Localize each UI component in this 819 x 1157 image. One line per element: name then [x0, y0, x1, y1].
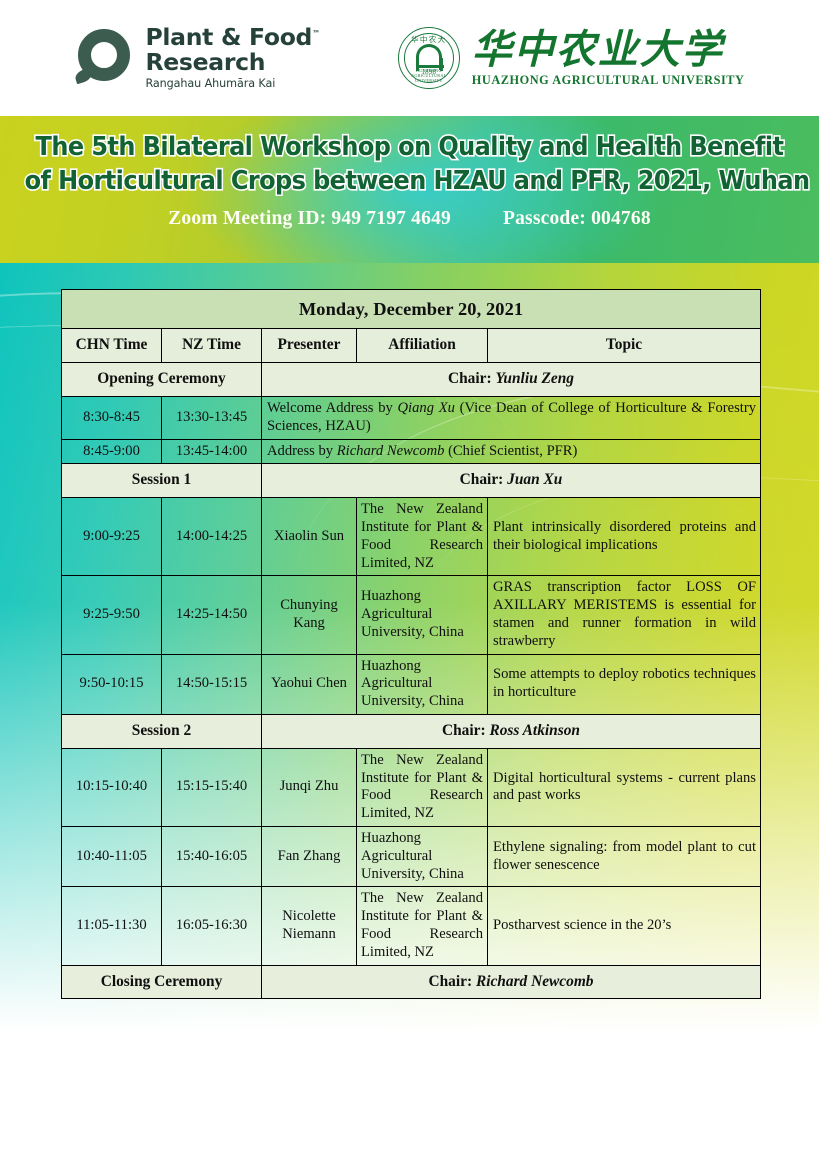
nz-time-cell: 14:50-15:15 [162, 654, 262, 714]
topic-cell: Postharvest science in the 20’s [488, 887, 761, 965]
affiliation-cell: Huazhong Agricultural University, China [357, 654, 488, 714]
topic-cell: GRAS transcription factor LOSS OF AXILLA… [488, 576, 761, 654]
presenter-cell: Fan Zhang [262, 826, 357, 886]
section-chair: Chair: Juan Xu [262, 464, 761, 498]
hzau-chinese-name: 华中农业大学 [472, 29, 745, 71]
zoom-meeting-id: Zoom Meeting ID: 949 7197 4649 [168, 208, 451, 229]
column-header-row: CHN TimeNZ TimePresenterAffiliationTopic [62, 329, 761, 363]
presenter-cell: Xiaolin Sun [262, 498, 357, 576]
presenter-cell: Junqi Zhu [262, 748, 357, 826]
chair-name: Juan Xu [507, 471, 562, 488]
chair-name: Richard Newcomb [476, 973, 594, 990]
column-header-topic: Topic [488, 329, 761, 363]
chn-time-cell: 9:50-10:15 [62, 654, 162, 714]
address-person-name: Qiang Xu [398, 400, 455, 416]
chn-time-cell: 11:05-11:30 [62, 887, 162, 965]
table-row: 9:50-10:1514:50-15:15Yaohui ChenHuazhong… [62, 654, 761, 714]
workshop-title: The 5th Bilateral Workshop on Quality an… [25, 130, 795, 198]
title-banner: The 5th Bilateral Workshop on Quality an… [0, 116, 819, 263]
section-header-row: Session 1Chair: Juan Xu [62, 464, 761, 498]
nz-time-cell: 16:05-16:30 [162, 887, 262, 965]
nz-time-cell: 13:30-13:45 [162, 397, 262, 440]
topic-cell: Digital horticultural systems - current … [488, 748, 761, 826]
schedule-container: Monday, December 20, 2021CHN TimeNZ Time… [61, 289, 760, 999]
chair-name: Yunliu Zeng [495, 370, 574, 387]
address-cell: Welcome Address by Qiang Xu (Vice Dean o… [262, 397, 761, 440]
section-header-row: Session 2Chair: Ross Atkinson [62, 714, 761, 748]
date-header-row: Monday, December 20, 2021 [62, 290, 761, 329]
section-label: Session 2 [62, 714, 262, 748]
logo-header: Plant & Food™ Research Rangahau Ahumāra … [0, 0, 819, 116]
trademark-icon: ™ [312, 30, 320, 39]
table-row: 8:45-9:0013:45-14:00Address by Richard N… [62, 439, 761, 464]
affiliation-cell: Huazhong Agricultural University, China [357, 826, 488, 886]
chn-time-cell: 8:30-8:45 [62, 397, 162, 440]
workshop-title-line2: of Horticultural Crops between HZAU and … [25, 164, 795, 198]
topic-cell: Ethylene signaling: from model plant to … [488, 826, 761, 886]
ring-leaf-icon [75, 29, 133, 87]
nz-time-cell: 14:25-14:50 [162, 576, 262, 654]
pfr-maori-tagline: Rangahau Ahumāra Kai [146, 78, 320, 89]
zoom-passcode: Passcode: 004768 [503, 208, 651, 229]
hzau-seal-icon: 华中农大 1898 HUAZHONG AGRICULTURAL UNIVERSI… [398, 27, 460, 89]
workshop-title-line1: The 5th Bilateral Workshop on Quality an… [25, 130, 795, 164]
table-row: 11:05-11:3016:05-16:30Nicolette NiemannT… [62, 887, 761, 965]
table-row: 10:15-10:4015:15-15:40Junqi ZhuThe New Z… [62, 748, 761, 826]
chn-time-cell: 10:40-11:05 [62, 826, 162, 886]
presenter-cell: Chunying Kang [262, 576, 357, 654]
nz-time-cell: 14:00-14:25 [162, 498, 262, 576]
address-person-name: Richard Newcomb [337, 443, 445, 459]
column-header-chn-time: CHN Time [62, 329, 162, 363]
presenter-cell: Nicolette Niemann [262, 887, 357, 965]
seal-arc-text: HUAZHONG AGRICULTURAL UNIVERSITY [399, 68, 459, 83]
plant-and-food-research-logo: Plant & Food™ Research Rangahau Ahumāra … [75, 26, 320, 89]
section-label: Session 1 [62, 464, 262, 498]
topic-cell: Plant intrinsically disordered proteins … [488, 498, 761, 576]
affiliation-cell: Huazhong Agricultural University, China [357, 576, 488, 654]
pfr-line1: Plant & Food [146, 23, 313, 51]
column-header-nz-time: NZ Time [162, 329, 262, 363]
table-row: 10:40-11:0515:40-16:05Fan ZhangHuazhong … [62, 826, 761, 886]
zoom-meeting-info: Zoom Meeting ID: 949 7197 4649Passcode: … [0, 208, 819, 230]
hzau-logo: 华中农大 1898 HUAZHONG AGRICULTURAL UNIVERSI… [398, 27, 745, 89]
date-header: Monday, December 20, 2021 [62, 290, 761, 329]
hzau-wordmark: 华中农业大学 HUAZHONG AGRICULTURAL UNIVERSITY [472, 29, 745, 88]
affiliation-cell: The New Zealand Institute for Plant & Fo… [357, 498, 488, 576]
section-chair: Chair: Ross Atkinson [262, 714, 761, 748]
nz-time-cell: 15:15-15:40 [162, 748, 262, 826]
hzau-english-name: HUAZHONG AGRICULTURAL UNIVERSITY [472, 73, 745, 88]
affiliation-cell: The New Zealand Institute for Plant & Fo… [357, 748, 488, 826]
table-row: 9:00-9:2514:00-14:25Xiaolin SunThe New Z… [62, 498, 761, 576]
chn-time-cell: 8:45-9:00 [62, 439, 162, 464]
section-chair: Chair: Richard Newcomb [262, 965, 761, 999]
section-label: Closing Ceremony [62, 965, 262, 999]
column-header-presenter: Presenter [262, 329, 357, 363]
section-header-row: Closing CeremonyChair: Richard Newcomb [62, 965, 761, 999]
affiliation-cell: The New Zealand Institute for Plant & Fo… [357, 887, 488, 965]
nz-time-cell: 15:40-16:05 [162, 826, 262, 886]
table-row: 8:30-8:4513:30-13:45Welcome Address by Q… [62, 397, 761, 440]
topic-cell: Some attempts to deploy robotics techniq… [488, 654, 761, 714]
section-label: Opening Ceremony [62, 363, 262, 397]
nz-time-cell: 13:45-14:00 [162, 439, 262, 464]
chn-time-cell: 10:15-10:40 [62, 748, 162, 826]
table-row: 9:25-9:5014:25-14:50Chunying KangHuazhon… [62, 576, 761, 654]
schedule-table: Monday, December 20, 2021CHN TimeNZ Time… [61, 289, 761, 999]
chn-time-cell: 9:00-9:25 [62, 498, 162, 576]
address-cell: Address by Richard Newcomb (Chief Scient… [262, 439, 761, 464]
chair-name: Ross Atkinson [489, 722, 580, 739]
section-header-row: Opening CeremonyChair: Yunliu Zeng [62, 363, 761, 397]
section-chair: Chair: Yunliu Zeng [262, 363, 761, 397]
column-header-affiliation: Affiliation [357, 329, 488, 363]
pfr-line2: Research [146, 51, 320, 75]
presenter-cell: Yaohui Chen [262, 654, 357, 714]
chn-time-cell: 9:25-9:50 [62, 576, 162, 654]
pfr-wordmark: Plant & Food™ Research Rangahau Ahumāra … [146, 26, 320, 89]
